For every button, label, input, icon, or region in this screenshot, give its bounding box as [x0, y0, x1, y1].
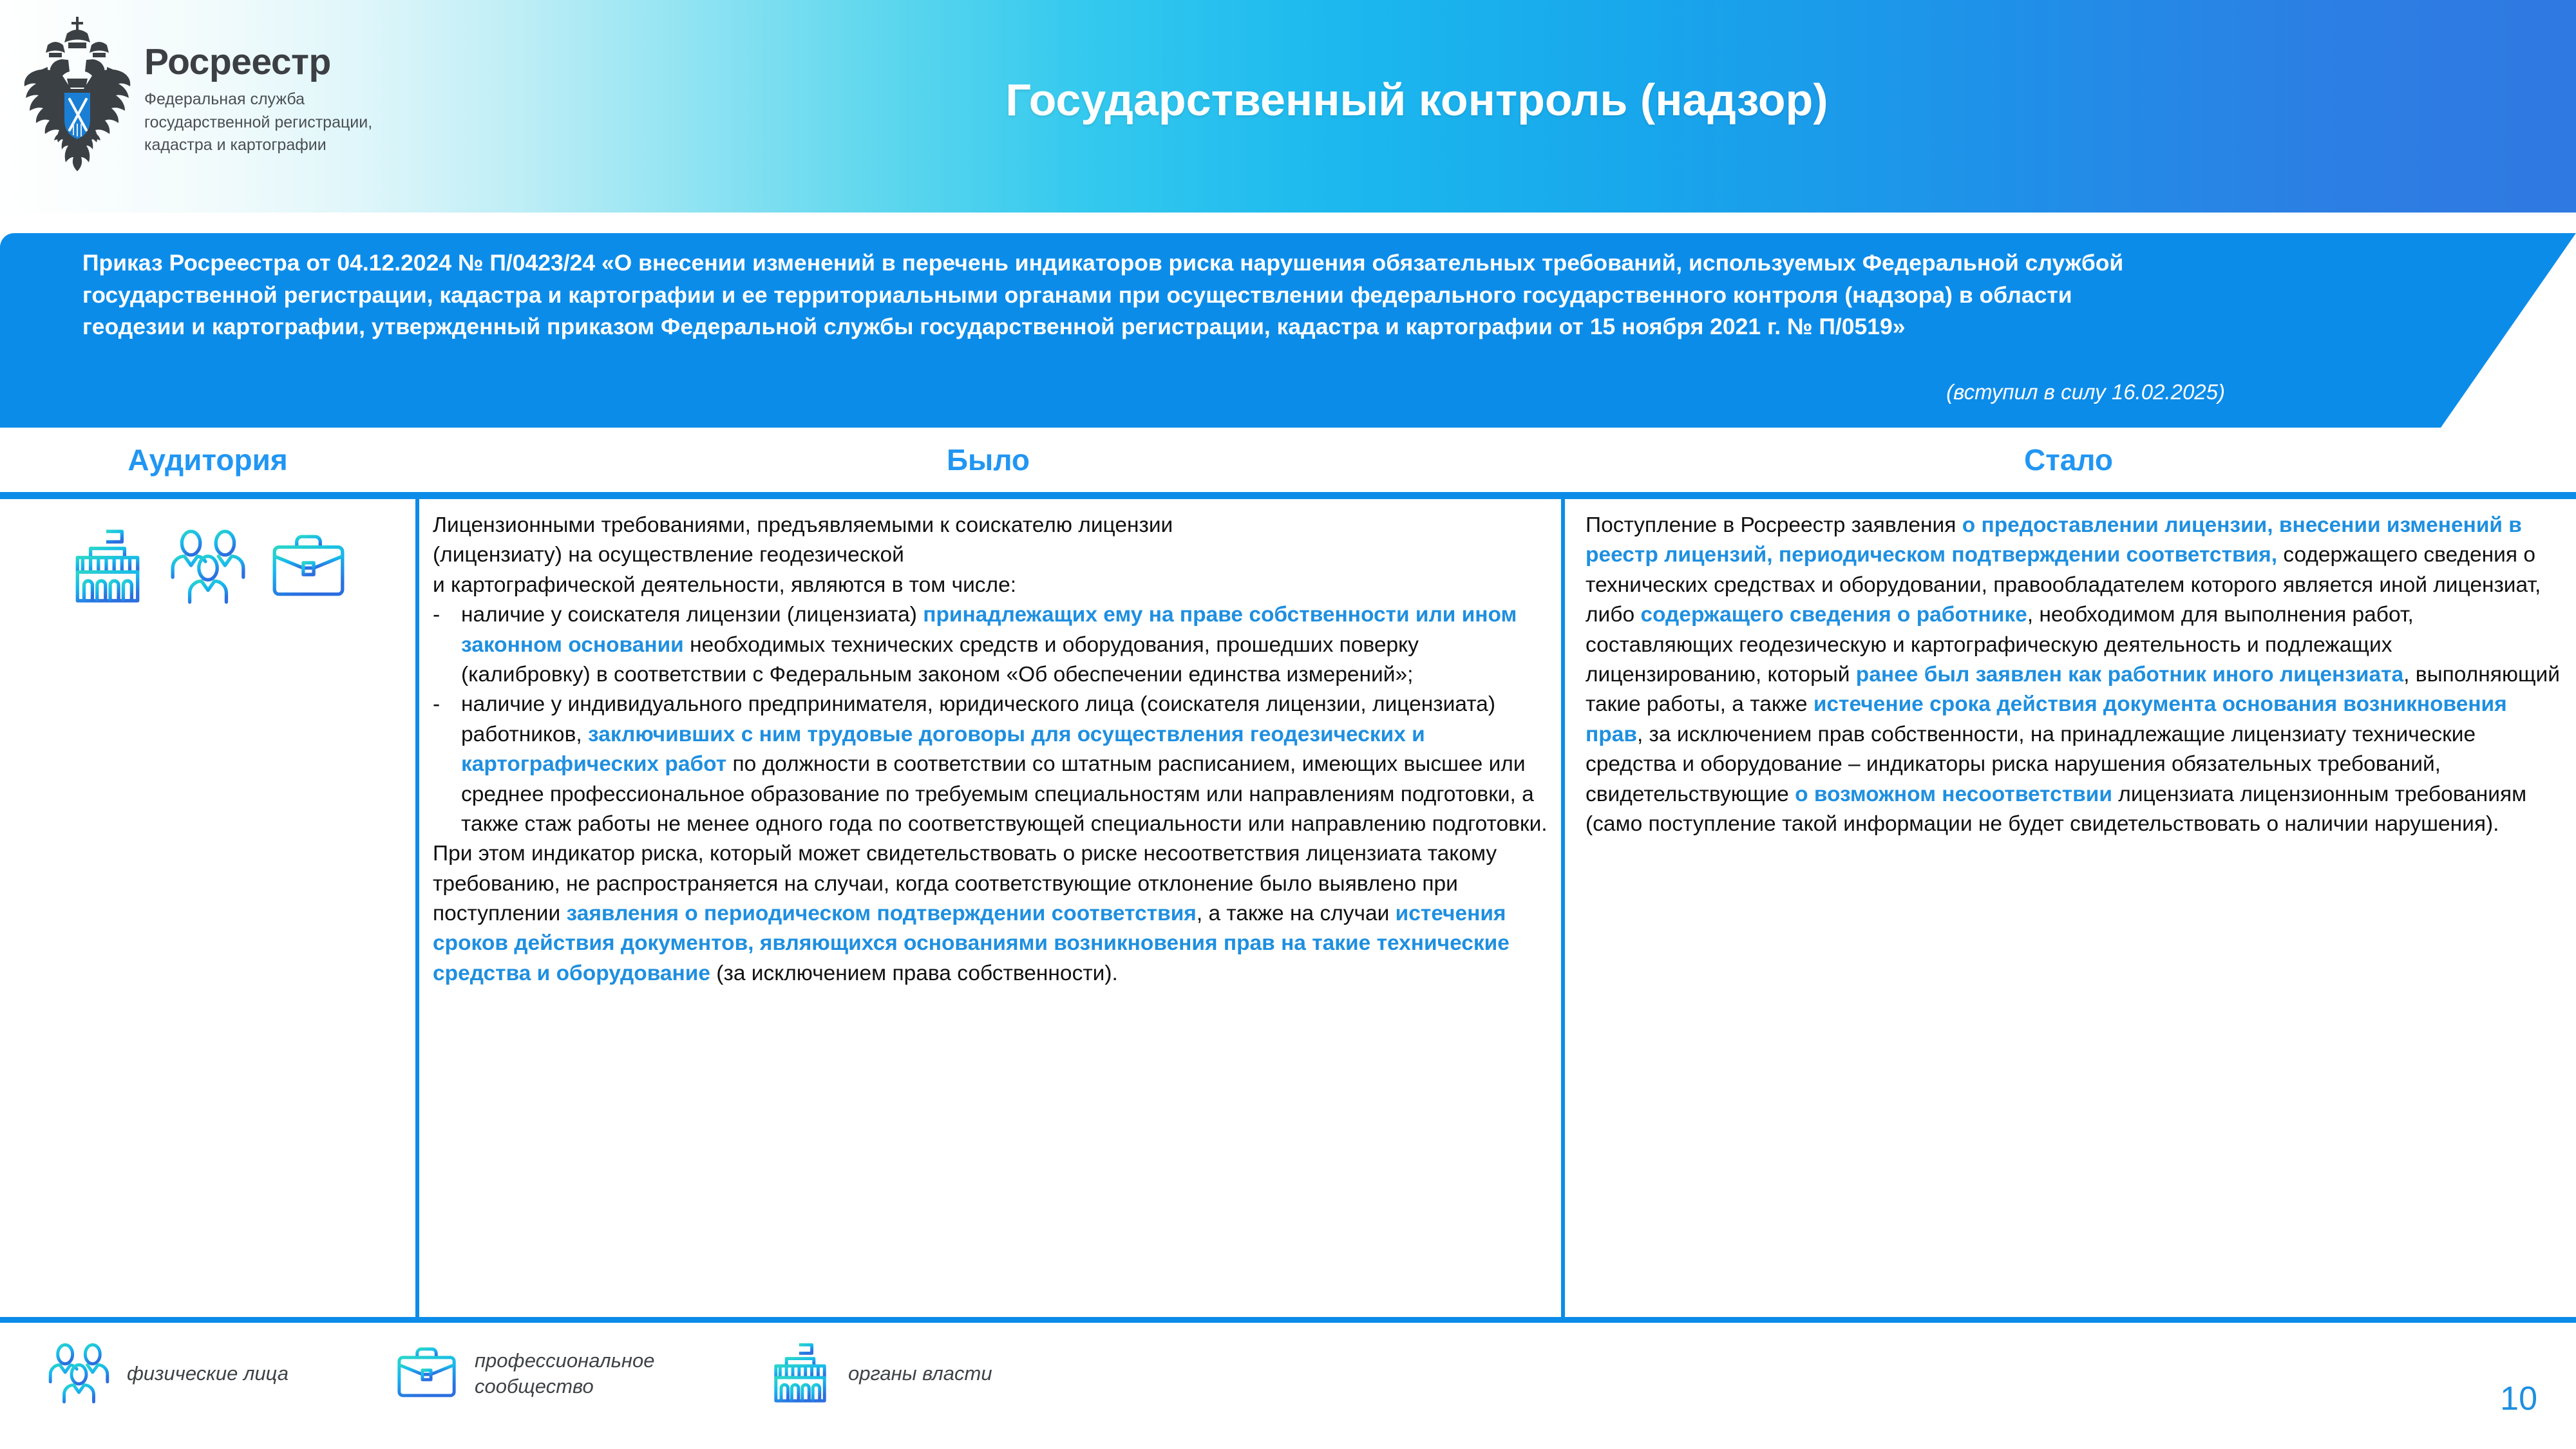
order-banner-text: Приказ Росреестра от 04.12.2024 № П/0423…: [82, 247, 2175, 343]
was-intro-line-3: и картографической деятельности, являютс…: [433, 571, 1550, 600]
was-intro-line-2: (лицензиату) на осуществление геодезичес…: [433, 540, 1550, 570]
legend-item-professional-community: профессиональное сообщество: [393, 1340, 654, 1407]
table-header-row: Аудитория Было Стало: [0, 428, 2576, 492]
slide-footer: физические лица профессиональное сообщес…: [0, 1327, 2576, 1449]
page-number: 10: [2500, 1379, 2537, 1418]
legend-label-authorities: органы власти: [848, 1361, 992, 1387]
audience-icon-group: [0, 525, 415, 609]
table-body-row: Лицензионными требованиями, предъявляемы…: [0, 499, 2576, 1317]
double-headed-eagle-emblem-icon: [19, 12, 135, 185]
logo-subtitle-line-1: Федеральная служба: [144, 88, 372, 111]
people-group-icon: [45, 1340, 113, 1407]
cell-was-content: Лицензионными требованиями, предъявляемы…: [433, 511, 1550, 989]
government-building-icon: [66, 525, 149, 609]
logo-subtitle-line-3: кадастра и картографии: [144, 134, 372, 157]
column-divider-1: [415, 499, 419, 1317]
effective-date-note: (вступил в силу 16.02.2025): [1946, 380, 2225, 404]
rosreestr-logo: Росреестр Федеральная служба государстве…: [19, 12, 372, 185]
legend-label-individuals: физические лица: [127, 1361, 289, 1387]
logo-subtitle-line-2: государственной регистрации,: [144, 111, 372, 135]
page-title: Государственный контроль (надзор): [644, 74, 2190, 126]
was-intro-line-1: Лицензионными требованиями, предъявляемы…: [433, 511, 1550, 540]
comparison-table: Аудитория Было Стало: [0, 428, 2576, 1323]
now-highlight-3: ранее был заявлен как работник иного лиц…: [1856, 663, 2403, 687]
order-banner: Приказ Росреестра от 04.12.2024 № П/0423…: [0, 233, 2576, 428]
briefcase-icon: [393, 1340, 460, 1407]
now-highlight-5: о возможном несоответствии: [1795, 782, 2112, 806]
cell-now-content: Поступление в Росреестр заявления о пред…: [1586, 511, 2564, 839]
legend-label-professional-community: профессиональное сообщество: [475, 1348, 654, 1399]
was-tail-text-2: , а также на случаи: [1197, 902, 1396, 925]
people-group-icon: [166, 525, 250, 609]
now-text-1: Поступление в Росреестр заявления: [1586, 513, 1962, 537]
was-b1-text-1: наличие у соискателя лицензии (лицензиат…: [461, 603, 923, 627]
column-header-was: Было: [415, 428, 1561, 492]
was-tail-text-3: (за исключением права собственности).: [710, 961, 1118, 985]
was-tail-highlight-1: заявления о периодическом подтверждении …: [567, 902, 1197, 925]
legend-label-line-1: профессиональное: [475, 1348, 654, 1374]
now-paragraph: Поступление в Росреестр заявления о пред…: [1586, 511, 2564, 839]
was-bullet-1: - наличие у соискателя лицензии (лицензи…: [433, 600, 1550, 690]
bullet-dash: -: [433, 690, 461, 839]
header-divider-line: [0, 492, 2576, 499]
bullet-dash: -: [433, 600, 461, 690]
column-header-now: Стало: [1561, 428, 2576, 492]
slide-header: Росреестр Федеральная служба государстве…: [0, 0, 2576, 213]
now-highlight-2: содержащего сведения о работнике: [1640, 603, 2027, 627]
logo-title: Росреестр: [144, 44, 372, 80]
table-bottom-line: [0, 1317, 2576, 1323]
government-building-icon: [766, 1340, 834, 1407]
column-header-audience: Аудитория: [0, 428, 415, 492]
was-tail-paragraph: При этом индикатор риска, который может …: [433, 839, 1550, 989]
briefcase-icon: [267, 525, 350, 609]
legend-item-individuals: физические лица: [45, 1340, 289, 1407]
legend-item-authorities: органы власти: [766, 1340, 992, 1407]
was-bullet-2: - наличие у индивидуального предпринимат…: [433, 690, 1550, 839]
logo-text-block: Росреестр Федеральная служба государстве…: [144, 12, 372, 157]
legend-label-line-2: сообщество: [475, 1374, 654, 1399]
logo-subtitle: Федеральная служба государственной регис…: [144, 88, 372, 157]
column-divider-2: [1561, 499, 1565, 1317]
